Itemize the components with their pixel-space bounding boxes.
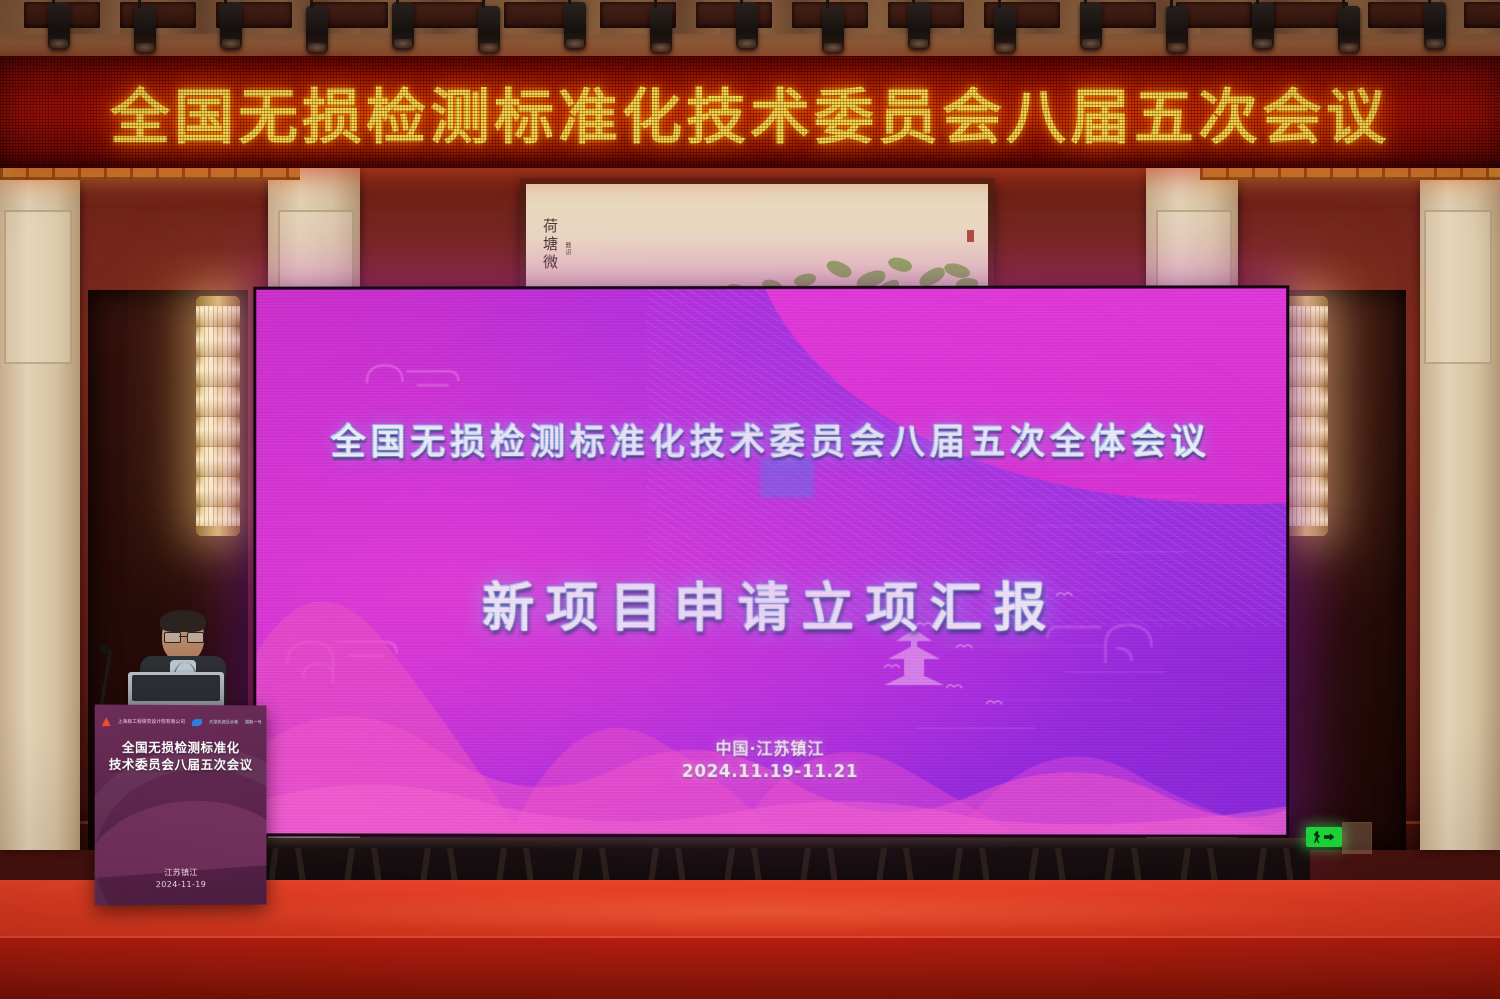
podium-title-line1: 全国无损检测标准化 — [95, 739, 267, 757]
screen-heading: 新项目申请立项汇报 — [256, 566, 1286, 641]
sconce-rib — [222, 296, 223, 536]
presenter-hair — [160, 610, 206, 632]
sconce-cap-bottom — [1284, 526, 1328, 536]
laptop-screen — [132, 675, 220, 701]
screen-location: 中国·江苏镇江 — [256, 735, 1286, 760]
podium-title-line2: 技术委员会八届五次会议 — [95, 756, 267, 773]
stage-spotlight — [220, 2, 242, 50]
spotlight-lens — [222, 39, 240, 48]
spotlight-lens — [480, 43, 498, 52]
screen-title: 全国无损检测标准化技术委员会八届五次全体会议 — [256, 414, 1286, 466]
led-banner: 全国无损检测标准化技术委员会八届五次会议 — [0, 56, 1500, 168]
scroll-calligraphy: 荷塘微 — [542, 218, 557, 272]
sconce-rib — [236, 296, 237, 536]
ceiling-recess — [1272, 2, 1348, 28]
sconce-rib — [204, 296, 205, 536]
stage-spotlight — [736, 2, 758, 50]
main-led-screen[interactable]: 全国无损检测标准化技术委员会八届五次全体会议 新项目申请立项汇报 中国·江苏镇江… — [253, 285, 1289, 837]
sconce-rib — [1292, 296, 1293, 536]
screen-dates: 2024.11.19-11.21 — [256, 762, 1286, 783]
lens-left — [164, 632, 181, 643]
stage-spotlight — [1424, 2, 1446, 50]
sconce-cap-top — [196, 296, 240, 306]
stage-spotlight — [134, 6, 156, 54]
spotlight-lens — [1254, 39, 1272, 48]
stage-spotlight — [822, 6, 844, 54]
speed-line — [1136, 495, 1196, 497]
sconce-rib — [1305, 296, 1306, 536]
podium-panel: 上海核工程研究设计院有限公司 大型先进压水堆 国和一号 全国无损检测标准化 技术… — [95, 704, 267, 905]
scroll-leaf — [887, 254, 914, 274]
spotlight-lens — [50, 39, 68, 48]
ceiling-recess — [1464, 2, 1500, 28]
speed-line — [955, 499, 1105, 501]
artist-seal — [967, 230, 974, 242]
podium-title: 全国无损检测标准化 技术委员会八届五次会议 — [95, 739, 267, 773]
sconce-rib — [1301, 296, 1302, 536]
spotlight-lens — [308, 43, 326, 52]
running-man-icon — [1314, 831, 1322, 843]
stage-spotlight — [650, 6, 672, 54]
ceiling-recess — [696, 2, 772, 28]
cloud-motif-top — [359, 333, 479, 403]
sconce-rib — [231, 296, 232, 536]
stage-spotlight — [1252, 2, 1274, 50]
ceiling-recess — [120, 2, 196, 28]
spotlight-lens — [1168, 43, 1186, 52]
spotlight-lens — [652, 43, 670, 52]
stage-spotlight — [564, 2, 586, 50]
stage-spotlight — [1166, 6, 1188, 54]
sconce-rib — [227, 296, 228, 536]
sconce-rib — [208, 296, 209, 536]
spotlight-lens — [394, 39, 412, 48]
spotlight-lens — [996, 43, 1014, 52]
flame-logo-icon — [102, 717, 111, 726]
spotlight-lens — [738, 39, 756, 48]
glasses-bridge — [179, 636, 187, 637]
screen-surface: 全国无损检测标准化技术委员会八届五次全体会议 新项目申请立项汇报 中国·江苏镇江… — [256, 288, 1286, 834]
stage-spotlight — [478, 6, 500, 54]
podium-date: 2024-11-19 — [95, 879, 267, 892]
sconce-rib — [213, 296, 214, 536]
spotlight-lens — [1340, 43, 1358, 52]
podium-logo-label-2: 国和一号 — [245, 720, 262, 725]
conference-hall-photo: 荷塘微 题识 全国无损检测标准化技术委员会八届五次会议 — [0, 0, 1500, 999]
sconce-rib — [1315, 296, 1316, 536]
sconce-cap-bottom — [196, 526, 240, 536]
spotlight-lens — [824, 43, 842, 52]
swoosh-logo-icon — [192, 719, 202, 726]
stage-spotlight — [908, 2, 930, 50]
spotlight-lens — [1082, 39, 1100, 48]
sconce-rib — [199, 296, 200, 536]
podium-location: 江苏镇江 — [95, 867, 267, 880]
screen-footer: 中国·江苏镇江 2024.11.19-11.21 — [256, 735, 1286, 783]
stage-front-face — [0, 938, 1500, 999]
stone-panel-inset — [1424, 210, 1492, 364]
scroll-leaf — [824, 257, 854, 282]
wall-sconce-left — [196, 296, 240, 536]
stage-spotlight — [1080, 2, 1102, 50]
sconce-rib — [1319, 296, 1320, 536]
stage-spotlight — [48, 2, 70, 50]
podium-logo-label-0: 上海核工程研究设计院有限公司 — [118, 719, 185, 724]
stage-spotlight — [1338, 6, 1360, 54]
ceiling-recess — [408, 2, 484, 28]
sconce-rib — [1296, 296, 1297, 536]
spotlight-lens — [1426, 39, 1444, 48]
lens-right — [187, 632, 204, 643]
wall-plate — [1342, 822, 1372, 854]
wall-sconce-right — [1284, 296, 1328, 536]
scroll-subtitle: 题识 — [560, 242, 575, 256]
spotlight-lens — [910, 39, 928, 48]
sconce-cap-top — [1284, 296, 1328, 306]
podium-footer: 江苏镇江 2024-11-19 — [95, 867, 267, 892]
stage-spotlight — [306, 6, 328, 54]
glasses-icon — [164, 632, 202, 641]
carpet-light-glow — [170, 890, 1370, 934]
arrow-right-icon — [1324, 833, 1335, 842]
presenter-laptop[interactable] — [128, 672, 224, 706]
podium-sponsor-logos: 上海核工程研究设计院有限公司 大型先进压水堆 国和一号 — [102, 714, 260, 731]
truss-beam — [240, 838, 1310, 848]
stone-panel-inset — [4, 210, 72, 364]
spotlight-lens — [566, 39, 584, 48]
podium-logo-label-1: 大型先进压水堆 — [209, 720, 238, 725]
sconce-rib — [1324, 296, 1325, 536]
sconce-rib — [1310, 296, 1311, 536]
stage-spotlight — [994, 6, 1016, 54]
led-pixel-texture — [0, 56, 1500, 168]
stage-spotlight — [392, 2, 414, 50]
emergency-exit-sign — [1306, 827, 1342, 847]
spotlight-lens — [136, 43, 154, 52]
sconce-rib — [217, 296, 218, 536]
speed-line — [1055, 475, 1135, 477]
speed-line — [1035, 525, 1155, 527]
